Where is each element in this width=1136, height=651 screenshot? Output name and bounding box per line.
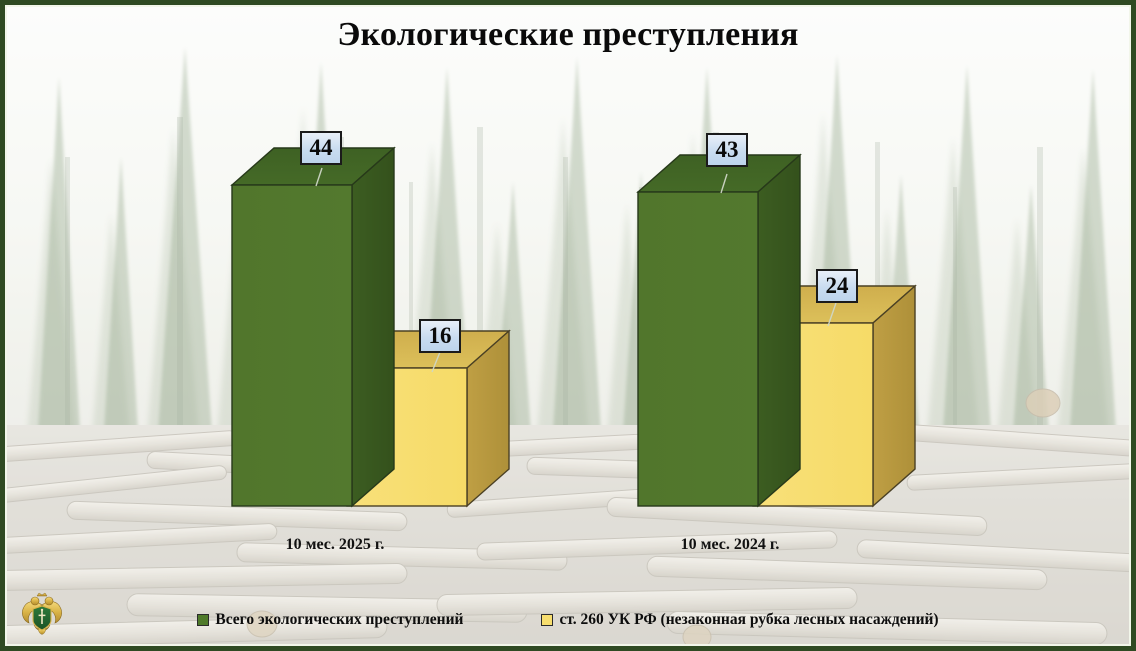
data-label-2024-total: 43 xyxy=(706,133,748,167)
page-title: Экологические преступления xyxy=(0,16,1136,54)
legend-label-art260: ст. 260 УК РФ (незаконная рубка лесных н… xyxy=(559,611,938,629)
prosecutor-general-office-emblem-icon xyxy=(20,591,64,639)
data-label-2024-art260: 24 xyxy=(816,269,858,303)
legend-swatch-yellow-icon xyxy=(541,614,553,626)
bar-chart-canvas xyxy=(0,0,1136,651)
data-label-2025-art260: 16 xyxy=(419,319,461,353)
bar-2024-total xyxy=(638,155,800,506)
chart-legend: Всего экологических преступлений ст. 260… xyxy=(0,611,1136,629)
legend-label-total: Всего экологических преступлений xyxy=(215,611,463,629)
category-label-2025: 10 мес. 2025 г. xyxy=(190,536,480,554)
category-label-2024: 10 мес. 2024 г. xyxy=(585,536,875,554)
legend-item-total[interactable]: Всего экологических преступлений xyxy=(197,611,463,629)
bar-2025-total xyxy=(232,148,394,506)
presentation-slide: Экологические преступления xyxy=(0,0,1136,651)
data-label-2025-total: 44 xyxy=(300,131,342,165)
legend-swatch-green-icon xyxy=(197,614,209,626)
emblem-art xyxy=(20,591,64,639)
bar-chart xyxy=(0,0,1136,651)
legend-item-art260[interactable]: ст. 260 УК РФ (незаконная рубка лесных н… xyxy=(541,611,938,629)
